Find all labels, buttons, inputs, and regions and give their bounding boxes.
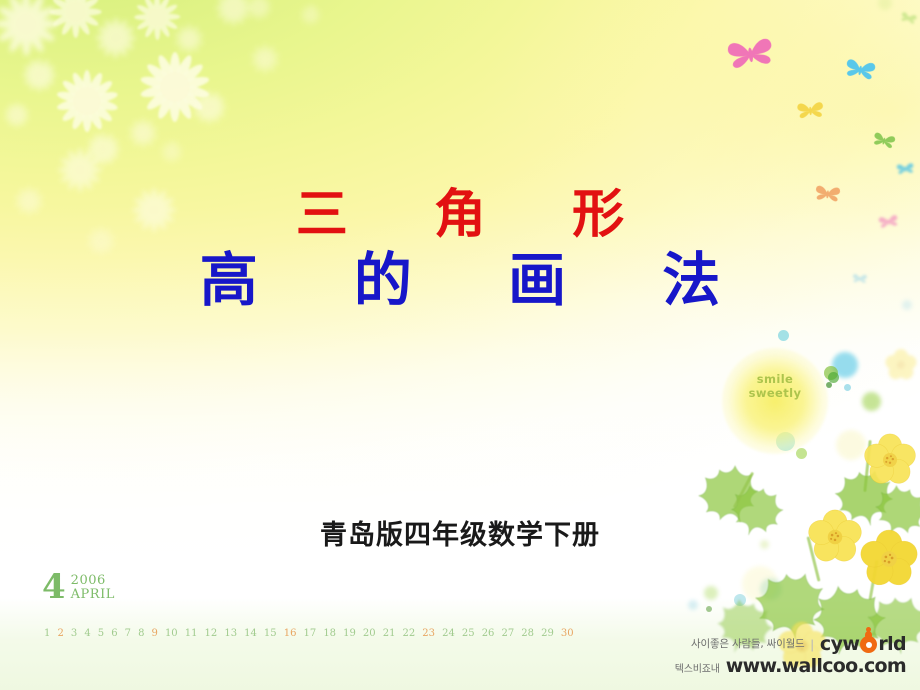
cyworld-person-icon [860,636,877,653]
daisy-flower-icon [4,102,30,128]
calendar-year: 2006 [71,574,115,588]
bokeh-dot [778,330,789,341]
calendar-day: 25 [462,628,475,639]
butterfly-icon [842,55,878,85]
butterfly-icon [870,129,897,152]
calendar-year-month: 2006 APRIL [71,572,115,602]
butterfly-icon [795,99,825,123]
footer-divider: | [810,638,815,651]
calendar-day-strip: 1234567891011121314151617181920212223242… [44,628,574,639]
calendar-day: 27 [501,628,514,639]
calendar-day: 2 [57,628,63,639]
smile-line-2: sweetly [722,386,828,400]
daisy-flower-icon [160,140,184,164]
calendar-day: 13 [224,628,237,639]
buttercup-flower-icon [862,432,918,488]
bokeh-dot [862,392,881,411]
cyworld-logo: cyw rld [820,635,906,654]
footer-bottom-row: 텍스비죠내 www.wallcoo.com [675,657,906,676]
presentation-slide: smile sweetly 三 角 形 高 的 画 法 青岛版四年级数学下册 4… [0,0,920,690]
calendar-day: 14 [244,628,257,639]
slide-title-line-2: 高 的 画 法 [0,246,920,314]
smile-sweetly-text: smile sweetly [722,372,828,400]
calendar-day: 23 [422,628,435,639]
calendar-month-number: 4 [42,572,65,602]
calendar-day: 11 [185,628,198,639]
calendar-day: 20 [363,628,376,639]
calendar-day: 8 [138,628,144,639]
bokeh-dot [704,586,718,600]
calendar-day: 24 [442,628,455,639]
daisy-flower-icon [22,58,56,92]
daisy-flower-icon [96,18,136,58]
daisy-flower-icon [174,24,204,54]
calendar-day: 28 [521,628,534,639]
butterfly-icon [899,10,919,27]
calendar-day: 19 [343,628,356,639]
daisy-flower-icon [300,4,322,26]
daisy-flower-icon [56,70,118,132]
calendar-day: 26 [482,628,495,639]
smile-line-1: smile [722,372,828,386]
calendar-day: 16 [284,628,297,639]
bokeh-dot [688,600,698,610]
daisy-flower-icon [192,90,226,124]
bokeh-dot [878,0,892,10]
calendar-day: 4 [84,628,90,639]
calendar-day: 22 [403,628,416,639]
calendar-day: 30 [561,628,574,639]
daisy-flower-icon [134,0,180,40]
bokeh-dot [844,384,851,391]
calendar-badge: 4 2006 APRIL [42,572,115,602]
slide-title-line-1: 三 角 形 [0,184,920,246]
wallcoo-footer-brand: 사이좋은 사람들, 싸이월드 | cyw rld 텍스비죠내 www.wallc… [675,635,906,676]
calendar-day: 3 [71,628,77,639]
bokeh-dot [706,606,712,612]
calendar-day: 7 [125,628,131,639]
smile-glow-circle [722,348,828,454]
calendar-day: 10 [165,628,178,639]
butterfly-icon [724,33,778,77]
calendar-day: 6 [111,628,117,639]
wallcoo-url: www.wallcoo.com [726,657,906,676]
calendar-day: 9 [152,628,158,639]
cyworld-korean-tagline: 사이좋은 사람들, 싸이월드 [691,639,804,650]
calendar-day: 21 [383,628,396,639]
bokeh-dot [796,448,807,459]
slide-subtitle: 青岛版四年级数学下册 [0,518,920,554]
calendar-day: 17 [304,628,317,639]
calendar-day: 18 [323,628,336,639]
calendar-month-name: APRIL [71,588,115,602]
calendar-day: 15 [264,628,277,639]
calendar-day: 5 [98,628,104,639]
calendar-day: 29 [541,628,554,639]
calendar-day: 12 [205,628,218,639]
daisy-flower-icon [128,118,158,148]
cyworld-logo-text-left: cyw [820,635,859,654]
footer-top-row: 사이좋은 사람들, 싸이월드 | cyw rld [691,635,906,654]
calendar-day: 1 [44,628,50,639]
footer-korean-sub: 텍스비죠내 [675,665,720,675]
cyworld-logo-text-right: rld [878,635,906,654]
buttercup-flower-icon [884,348,918,382]
person-body [865,631,872,639]
butterfly-icon [895,161,915,177]
daisy-flower-icon [250,44,280,74]
person-glyph [866,627,872,638]
daisy-flower-icon [246,0,272,20]
daisy-flower-icon [50,0,102,38]
